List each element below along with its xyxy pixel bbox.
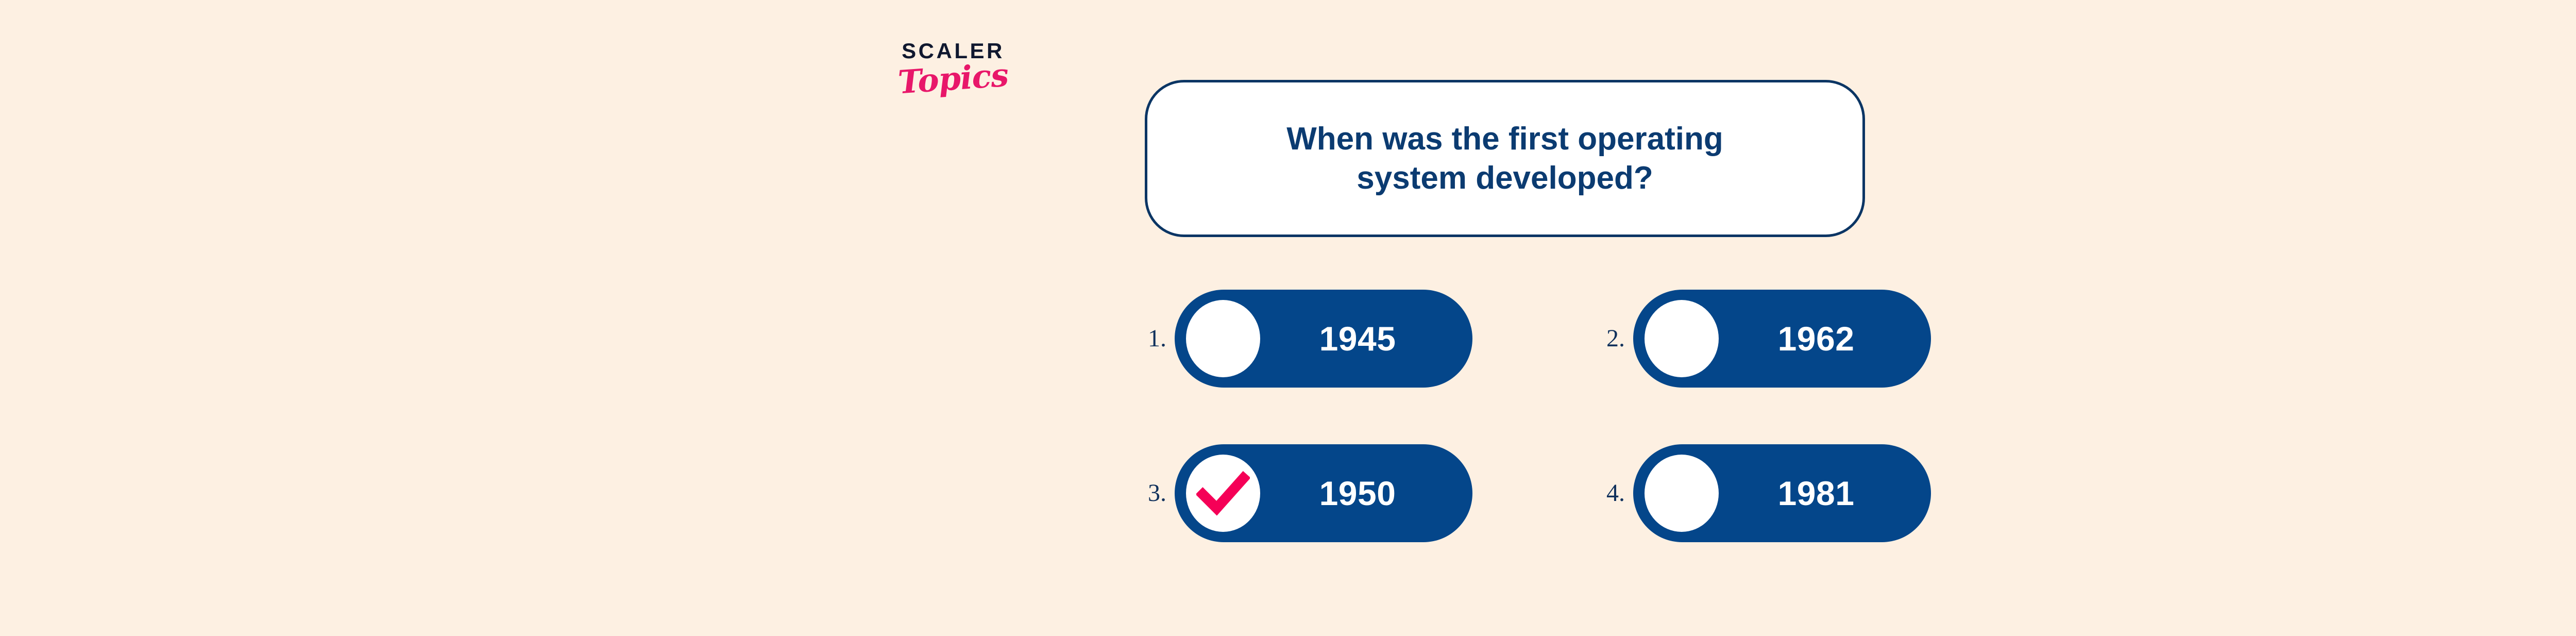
check-icon — [1196, 466, 1250, 520]
logo-wordmark-topics: Topics — [875, 58, 1031, 101]
option-label: 1962 — [1719, 322, 1931, 356]
option-row[interactable]: 4. 1981 — [1603, 444, 1931, 542]
option-index: 4. — [1603, 481, 1633, 506]
option-index: 3. — [1145, 481, 1175, 506]
scaler-topics-logo: SCALER Topics — [876, 40, 1030, 133]
quiz-slide: SCALER Topics When was the first operati… — [0, 0, 2576, 636]
option-label: 1981 — [1719, 476, 1931, 510]
radio-empty-icon[interactable] — [1645, 455, 1719, 532]
option-pill-1945[interactable]: 1945 — [1175, 290, 1472, 388]
option-row[interactable]: 2. 1962 — [1603, 290, 1931, 388]
option-index: 2. — [1603, 326, 1633, 351]
question-text: When was the first operating system deve… — [1286, 120, 1723, 197]
option-pill-1950[interactable]: 1950 — [1175, 444, 1472, 542]
option-row[interactable]: 1. 1945 — [1145, 290, 1472, 388]
option-index: 1. — [1145, 326, 1175, 351]
radio-empty-icon[interactable] — [1186, 300, 1260, 377]
option-row[interactable]: 3. 1950 — [1145, 444, 1472, 542]
option-pill-1962[interactable]: 1962 — [1633, 290, 1931, 388]
options-grid: 1. 1945 2. 1962 — [1145, 290, 1928, 537]
option-pill-1981[interactable]: 1981 — [1633, 444, 1931, 542]
radio-selected[interactable] — [1186, 455, 1260, 532]
option-label: 1950 — [1260, 476, 1472, 510]
question-card: When was the first operating system deve… — [1145, 80, 1865, 237]
option-label: 1945 — [1260, 322, 1472, 356]
radio-empty-icon[interactable] — [1645, 300, 1719, 377]
